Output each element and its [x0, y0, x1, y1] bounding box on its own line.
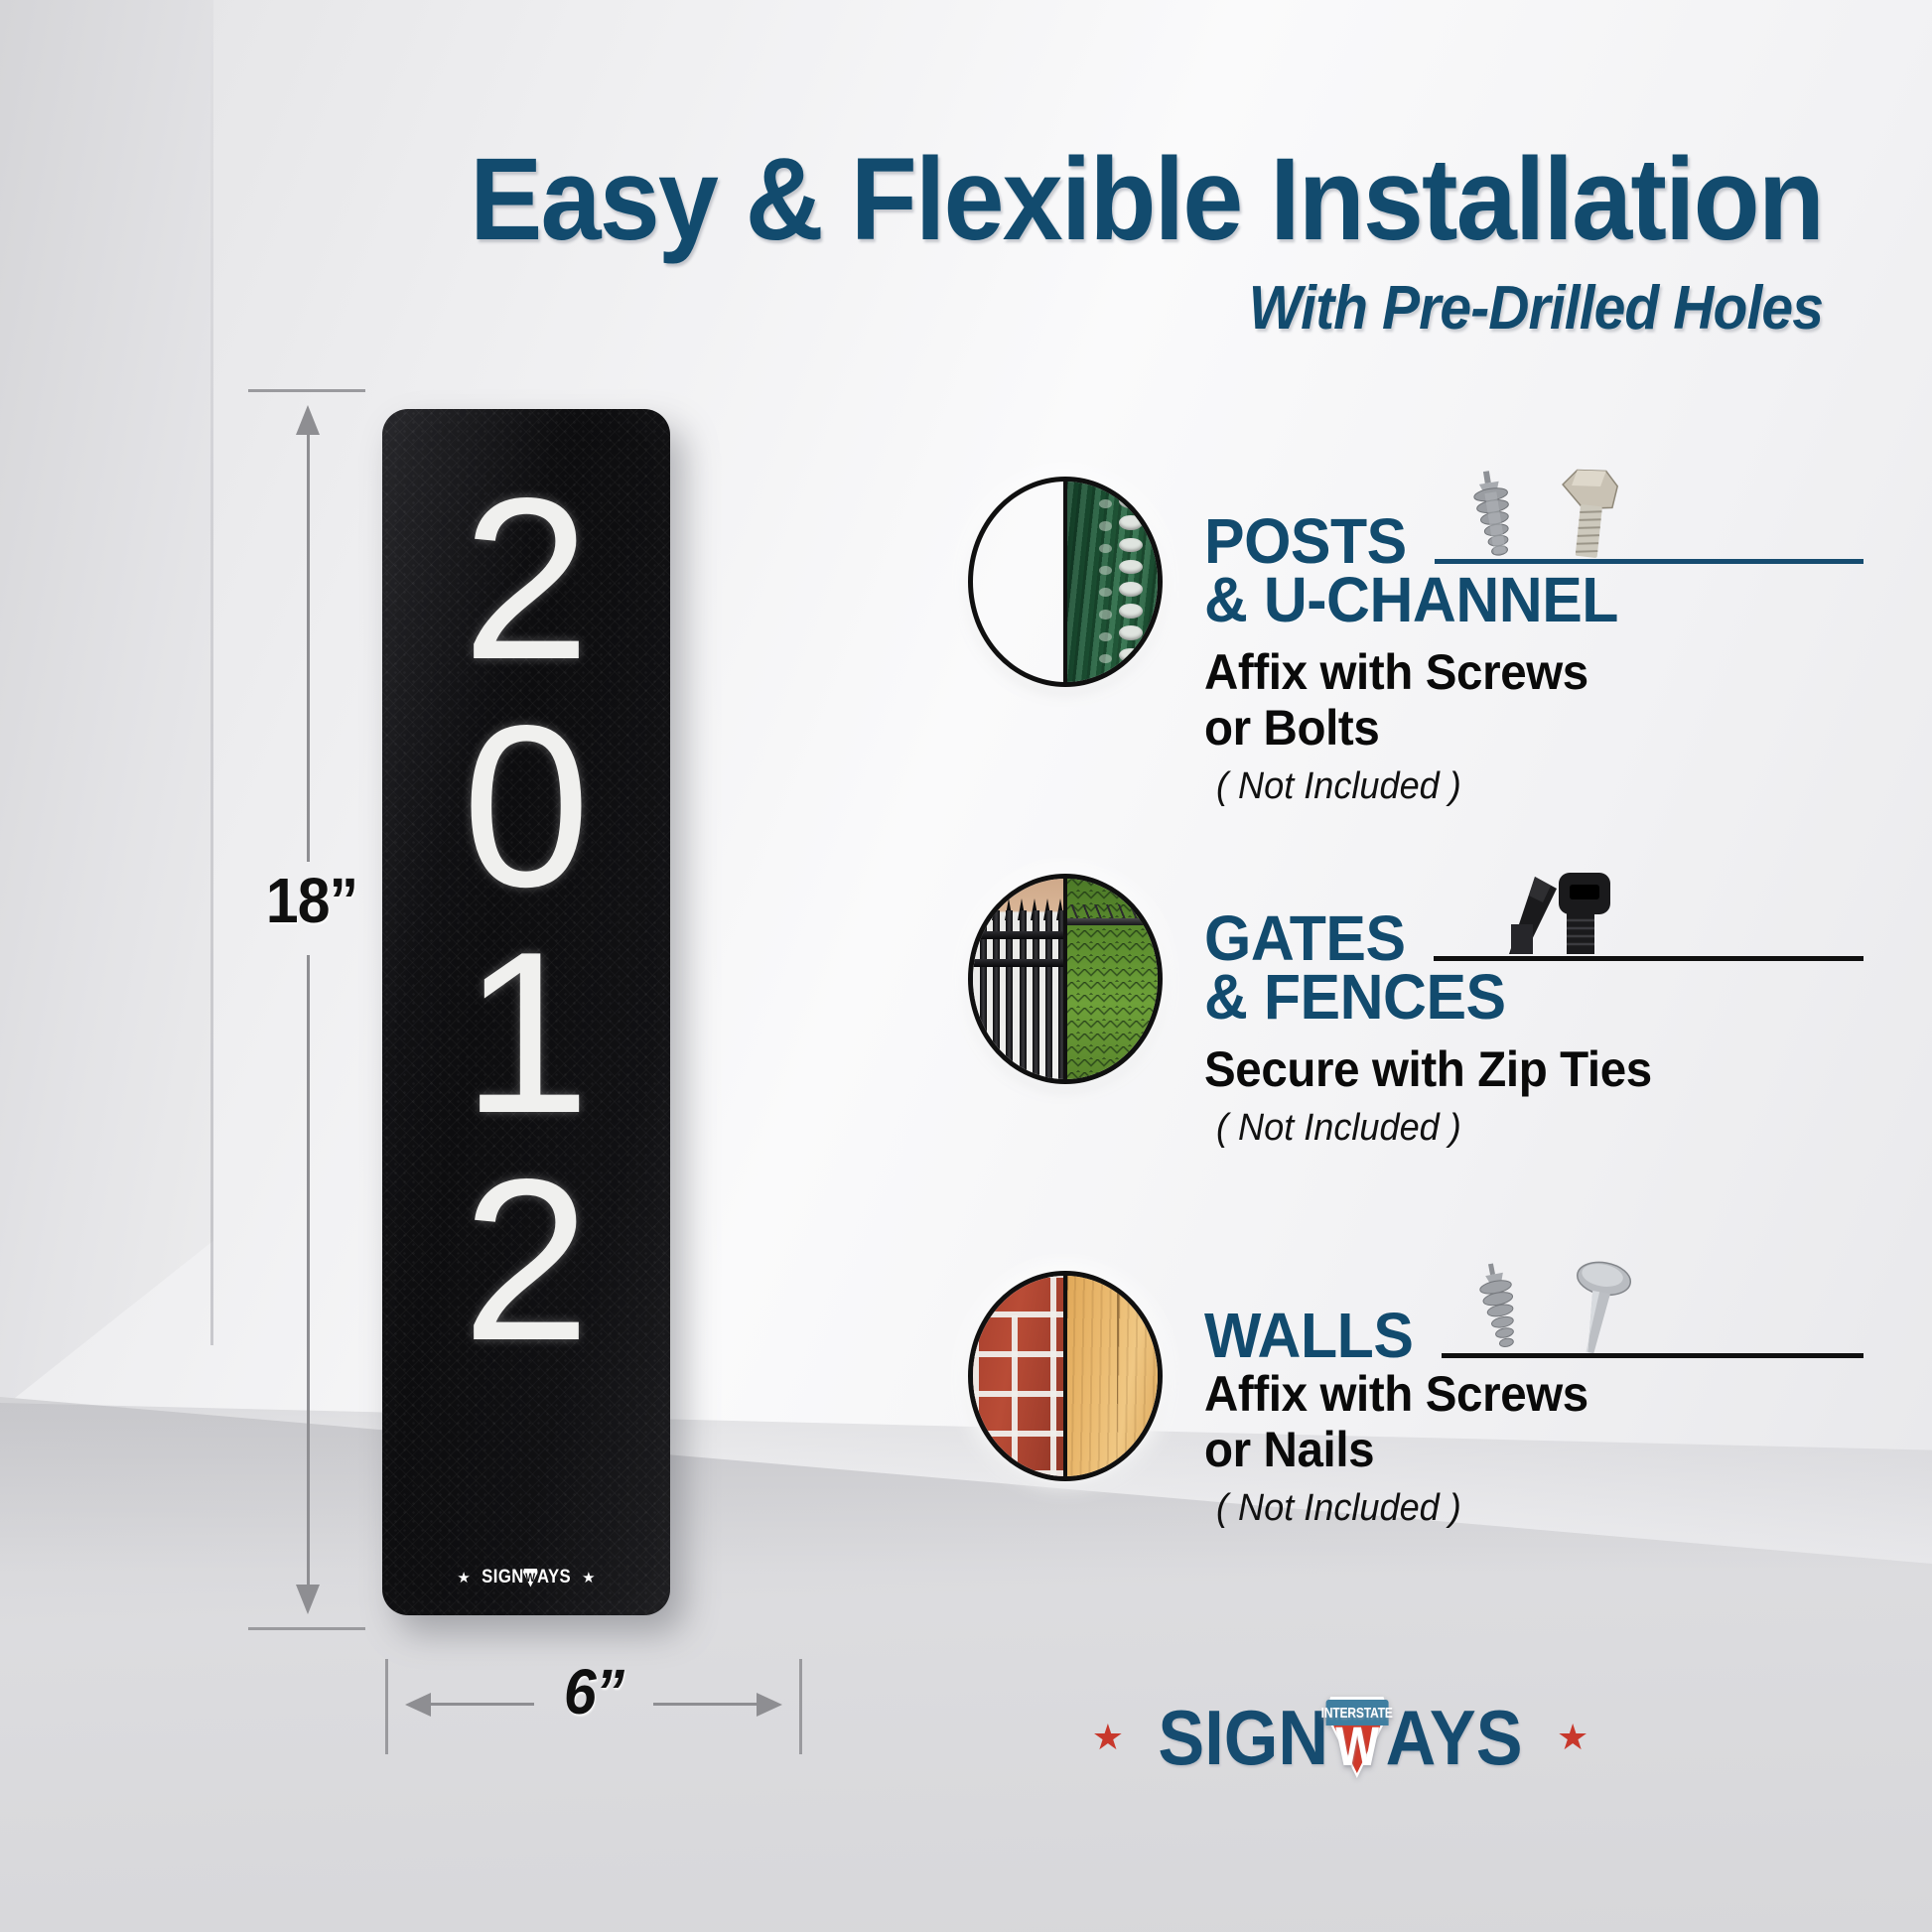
image-divider [1063, 879, 1067, 1079]
sign-brand-part2: AYS [537, 1567, 571, 1588]
wood-post-image [973, 482, 1065, 682]
feature-image-walls [968, 1271, 1163, 1481]
feature-description: Affix with Screws or Bolts [1204, 644, 1827, 756]
brand-wordmark: SIGN INTERSTATE W AYS [1158, 1693, 1522, 1783]
feature-description: Secure with Zip Ties [1204, 1041, 1827, 1097]
feature-note: ( Not Included ) [1216, 1487, 1828, 1530]
arrow-down-icon [296, 1585, 320, 1614]
screw-bolt-svg [1441, 466, 1659, 561]
zip-tie-icon [1430, 864, 1860, 971]
lag-screw-and-hex-bolt-icon [1431, 467, 1860, 574]
fence-top-rail [1065, 918, 1158, 925]
feature-title-line2: & FENCES [1204, 965, 1827, 1030]
screw-nail-svg [1448, 1260, 1666, 1355]
feature-note: ( Not Included ) [1216, 765, 1828, 808]
brick-wall-image [973, 1276, 1065, 1476]
dimension-line-right [653, 1703, 760, 1706]
sign-brand-part1: SIGN [482, 1567, 524, 1588]
star-icon: ★ [1557, 1720, 1588, 1755]
feature-walls: WALLS [968, 1261, 1862, 1658]
image-divider [1063, 482, 1067, 682]
width-dimension: 6” [385, 1653, 802, 1762]
post-holes [1119, 482, 1143, 682]
feature-text-posts: POSTS [1204, 467, 1860, 808]
height-label: 18” [238, 864, 384, 937]
gate-bars [973, 879, 1065, 1079]
feature-image-posts [968, 477, 1163, 687]
star-icon: ★ [582, 1571, 595, 1586]
post-holes-secondary [1099, 482, 1111, 682]
sign-brand-logo: ★ SIGN W AYS ★ [382, 1567, 670, 1588]
feature-posts-u-channel: POSTS [968, 467, 1862, 864]
dimension-tick-bottom [248, 1627, 365, 1630]
image-divider [1063, 1276, 1067, 1476]
brand-word-part1: SIGN [1158, 1693, 1328, 1783]
green-u-channel-image [1065, 482, 1158, 682]
feature-note: ( Not Included ) [1216, 1107, 1828, 1150]
page-subtitle: With Pre-Drilled Holes [146, 278, 1823, 340]
product-sign[interactable]: 2 0 1 2 ★ SIGN W AYS ★ [382, 409, 670, 1615]
sign-face: 2 0 1 2 ★ SIGN W AYS ★ [382, 409, 670, 1615]
star-icon: ★ [457, 1571, 470, 1586]
feature-title-line2: & U-CHANNEL [1204, 568, 1827, 632]
sign-digit: 0 [462, 694, 590, 921]
shield-icon: W [523, 1569, 538, 1587]
headline-block: Easy & Flexible Installation With Pre-Dr… [0, 141, 1823, 340]
feature-text-walls: WALLS [1204, 1261, 1860, 1530]
zip-tie-svg [1440, 863, 1658, 958]
screw-and-nail-icon [1438, 1261, 1860, 1368]
dimension-tick-left [385, 1659, 388, 1754]
width-label: 6” [402, 1655, 785, 1728]
dimension-line-upper [307, 427, 310, 862]
sign-digit: 1 [462, 920, 590, 1148]
wood-siding-image [1065, 1276, 1158, 1476]
feature-gates-fences: GATES [968, 864, 1862, 1261]
shield-letter: W [1327, 1719, 1387, 1774]
sign-digit: 2 [462, 467, 590, 694]
dimension-tick-right [799, 1659, 802, 1754]
brand-word-part2: AYS [1386, 1693, 1523, 1783]
feature-title-line1: WALLS [1204, 1304, 1413, 1368]
dimension-line-lower [307, 955, 310, 1595]
feature-image-gates [968, 874, 1163, 1084]
dimension-tick-top [248, 389, 365, 392]
iron-gate-image [973, 879, 1065, 1079]
height-dimension: 18” [238, 389, 387, 1630]
sign-address-number: 2 0 1 2 [382, 467, 670, 1374]
feature-list: POSTS [968, 467, 1862, 1658]
brick-course-offset [973, 1315, 1065, 1481]
star-icon: ★ [1092, 1720, 1124, 1755]
arrow-right-icon [757, 1693, 782, 1717]
brand-logo[interactable]: ★ SIGN INTERSTATE W AYS ★ [1122, 1678, 1559, 1797]
feature-description: Affix with Screws or Nails [1204, 1366, 1827, 1477]
feature-rule [1442, 1353, 1863, 1358]
feature-text-gates: GATES [1204, 864, 1860, 1150]
chain-link-fence-image [1065, 879, 1158, 1079]
page-title: Easy & Flexible Installation [128, 141, 1823, 258]
shield-letter: W [523, 1569, 538, 1587]
sign-digit: 2 [462, 1148, 590, 1375]
sign-brand-text: SIGN W AYS [482, 1567, 571, 1588]
interstate-shield-icon: INTERSTATE W [1324, 1697, 1389, 1778]
